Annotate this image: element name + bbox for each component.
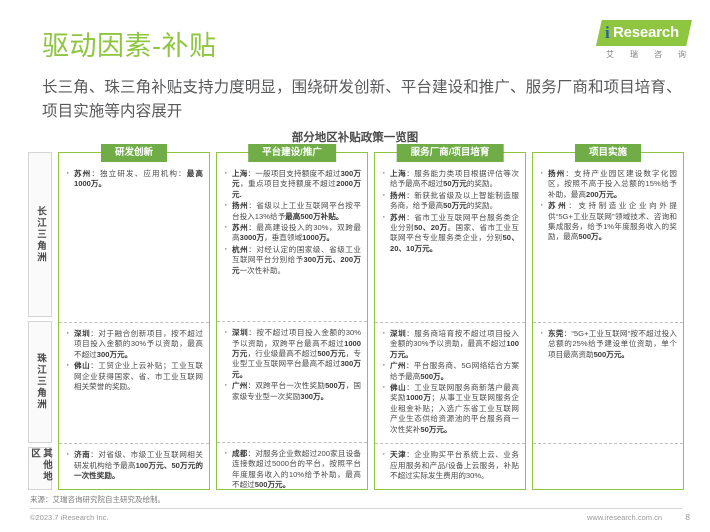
logo-cn-char-0: 艾 [606, 49, 614, 60]
bullet-list: 苏州：独立研发、应用机构：最高1000万。 [64, 169, 203, 190]
logo-wordmark: Research [613, 23, 679, 43]
bullet-item: 深圳：服务商培育按不超过项目投入金额的30%予以资助，最高不超过100万元。 [380, 329, 519, 360]
page-subtitle: 长三角、珠三角补贴支持力度明显，围绕研发创新、平台建设和推广、服务厂商和项目培育… [42, 76, 682, 124]
cell-r2c0: 济南：对省级、市级工业互联网相关研发机构给予最高100万元、50万元的一次性奖励… [59, 443, 209, 489]
bullet-item: 苏州：支持制造业企业向外提供“5G+工业互联网”领域技术、咨询和集成服务，给予1… [538, 201, 677, 243]
page-number: 8 [685, 512, 690, 522]
bullet-list: 上海：一般项目支持额度不超过300万元，重点项目支持额度不超过2000万元.扬州… [222, 169, 361, 276]
bullet-item: 苏州：独立研发、应用机构：最高1000万。 [64, 169, 203, 190]
cell-r1c3: 东莞：“5G+工业互联网“按不超过投入总额的25%给予建设单位资助，单个项目最高… [533, 322, 683, 443]
column-rd-innovation: 研发创新 苏州：独立研发、应用机构：最高1000万。 深圳：对于融合创新项目，按… [58, 152, 210, 490]
page-title: 驱动因素-补贴 [42, 30, 217, 62]
row-label-pearl-delta: 珠江三角洲 [28, 321, 52, 443]
row-label-yangtze-delta: 长江三角洲 [28, 152, 52, 317]
bullet-item: 苏州：最高建设投入的30%，双跨最高3000万，垂直领域1000万。 [222, 223, 361, 244]
cell-r1c0: 深圳：对于融合创新项目，按不超过项目投入金额的30%予以资助，最高不超过300万… [59, 322, 209, 443]
row-label-other-regions: 其他地区 [28, 447, 52, 490]
bullet-item: 佛山：工业互联网服务商新落户最高奖励1000万；从事工业互联网服务企业租金补贴；… [380, 383, 519, 435]
column-header-platform-construction: 平台建设/推广 [248, 144, 336, 162]
column-service-providers: 服务厂商/项目培育 上海：服务能力类项目根据评估等次给予最高不超过50万元的奖励… [374, 152, 526, 490]
bullet-list: 成都：对服务企业数超过200家且设备连接数超过5000台的平台，按照平台年度服务… [222, 449, 361, 491]
bullet-item: 苏州：省市工业互联网平台服务类企业分别50、20万。国家、省市工业互联网平台专业… [380, 213, 519, 255]
cell-r1c2: 深圳：服务商培育按不超过项目投入金额的30%予以资助，最高不超过100万元。广州… [375, 322, 525, 443]
bullet-list: 上海：服务能力类项目根据评估等次给予最高不超过50万元的奖励。扬州：新获批省级及… [380, 169, 519, 254]
cell-r0c1: 上海：一般项目支持额度不超过300万元，重点项目支持额度不超过2000万元.扬州… [217, 163, 367, 321]
bullet-item: 成都：对服务企业数超过200家且设备连接数超过5000台的平台，按照平台年度服务… [222, 449, 361, 491]
bullet-list: 深圳：按不超过项目投入金额的30%予以资助，双跨平台最高不超过1000万元，行业… [222, 328, 361, 402]
cell-r0c0: 苏州：独立研发、应用机构：最高1000万。 [59, 163, 209, 322]
chart-title: 部分地区补贴政策一览图 [0, 129, 710, 145]
logo-cn-char-3: 询 [678, 49, 686, 60]
logo-cn-char-2: 咨 [654, 49, 662, 60]
column-header-project-implementation: 项目实施 [575, 144, 641, 162]
cell-r0c2: 上海：服务能力类项目根据评估等次给予最高不超过50万元的奖励。扬州：新获批省级及… [375, 163, 525, 322]
bullet-item: 上海：服务能力类项目根据评估等次给予最高不超过50万元的奖励。 [380, 169, 519, 190]
policy-table: 长江三角洲 珠江三角洲 其他地区 研发创新 苏州：独立研发、应用机构：最高100… [28, 152, 684, 490]
table-columns: 研发创新 苏州：独立研发、应用机构：最高1000万。 深圳：对于融合创新项目，按… [58, 152, 684, 490]
bullet-item: 天津：企业购买平台系统上云、业务应用服务和产品/设备上云服务，补贴不超过实际发生… [380, 450, 519, 481]
website-url: www.iresearch.com.cn [587, 513, 662, 522]
bullet-item: 上海：一般项目支持额度不超过300万元，重点项目支持额度不超过2000万元. [222, 169, 361, 200]
cell-r1c1: 深圳：按不超过项目投入金额的30%予以资助，双跨平台最高不超过1000万元，行业… [217, 321, 367, 442]
bullet-item: 杭州：对经认定的国家级、省级工业互联网平台分别给予300万元、200万元一次性补… [222, 245, 361, 276]
bullet-list: 深圳：服务商培育按不超过项目投入金额的30%予以资助，最高不超过100万元。广州… [380, 329, 519, 435]
logo-i-letter: i [605, 22, 610, 44]
slide-root: i Research 艾 瑞 咨 询 驱动因素-补贴 长三角、珠三角补贴支持力度… [0, 0, 710, 532]
bullet-item: 东莞：“5G+工业互联网“按不超过投入总额的25%给予建设单位资助，单个项目最高… [538, 329, 677, 360]
footer-divider [30, 508, 682, 509]
logo-mark-icon: i Research [596, 20, 692, 46]
bullet-item: 深圳：对于融合创新项目，按不超过项目投入金额的30%予以资助，最高不超过300万… [64, 329, 203, 360]
cell-r2c3 [533, 443, 683, 489]
bullet-list: 扬州：支持产业园区建设数字化园区，按照不高于投入总额的15%给予补助，最高200… [538, 169, 677, 243]
column-platform-construction: 平台建设/推广 上海：一般项目支持额度不超过300万元，重点项目支持额度不超过2… [216, 152, 368, 490]
bullet-item: 广州：双跨平台一次性奖励500万，国家级专业型一次奖励300万。 [222, 381, 361, 402]
column-header-service-providers: 服务厂商/项目培育 [397, 144, 504, 162]
logo-chinese-name: 艾 瑞 咨 询 [596, 49, 692, 60]
bullet-item: 扬州：新获批省级及以上智能制造服务商，给予最高50万元的奖励。 [380, 191, 519, 212]
bullet-item: 广州：平台服务商、5G网络结合方案给予最高500万。 [380, 361, 519, 382]
source-note: 来源：艾瑞咨询研究院自主研究及绘制。 [30, 494, 165, 505]
logo-cn-char-1: 瑞 [630, 49, 638, 60]
iresearch-logo: i Research 艾 瑞 咨 询 [596, 20, 692, 60]
cell-r0c3: 扬州：支持产业园区建设数字化园区，按照不高于投入总额的15%给予补助，最高200… [533, 163, 683, 322]
cell-r2c1: 成都：对服务企业数超过200家且设备连接数超过5000台的平台，按照平台年度服务… [217, 442, 367, 489]
bullet-item: 扬州：省级以上工业互联网平台按平台投入13%给予最高500万补贴。 [222, 201, 361, 222]
row-label-column: 长江三角洲 珠江三角洲 其他地区 [28, 152, 52, 490]
bullet-list: 东莞：“5G+工业互联网“按不超过投入总额的25%给予建设单位资助，单个项目最高… [538, 329, 677, 360]
cell-r2c2: 天津：企业购买平台系统上云、业务应用服务和产品/设备上云服务，补贴不超过实际发生… [375, 443, 525, 489]
bullet-list: 天津：企业购买平台系统上云、业务应用服务和产品/设备上云服务，补贴不超过实际发生… [380, 450, 519, 481]
bullet-item: 济南：对省级、市级工业互联网相关研发机构给予最高100万元、50万元的一次性奖励… [64, 450, 203, 481]
copyright-text: ©2023.7 iResearch Inc. [30, 513, 109, 522]
bullet-list: 济南：对省级、市级工业互联网相关研发机构给予最高100万元、50万元的一次性奖励… [64, 450, 203, 481]
column-header-rd-innovation: 研发创新 [101, 144, 167, 162]
bullet-item: 佛山：工贸企业上云补贴；工业互联网企业获得国家、省、市工业互联网相关荣誉的奖励。 [64, 361, 203, 392]
bullet-item: 扬州：支持产业园区建设数字化园区，按照不高于投入总额的15%给予补助，最高200… [538, 169, 677, 200]
bullet-list: 深圳：对于融合创新项目，按不超过项目投入金额的30%予以资助，最高不超过300万… [64, 329, 203, 392]
bullet-item: 深圳：按不超过项目投入金额的30%予以资助，双跨平台最高不超过1000万元，行业… [222, 328, 361, 380]
column-project-implementation: 项目实施 扬州：支持产业园区建设数字化园区，按照不高于投入总额的15%给予补助，… [532, 152, 684, 490]
